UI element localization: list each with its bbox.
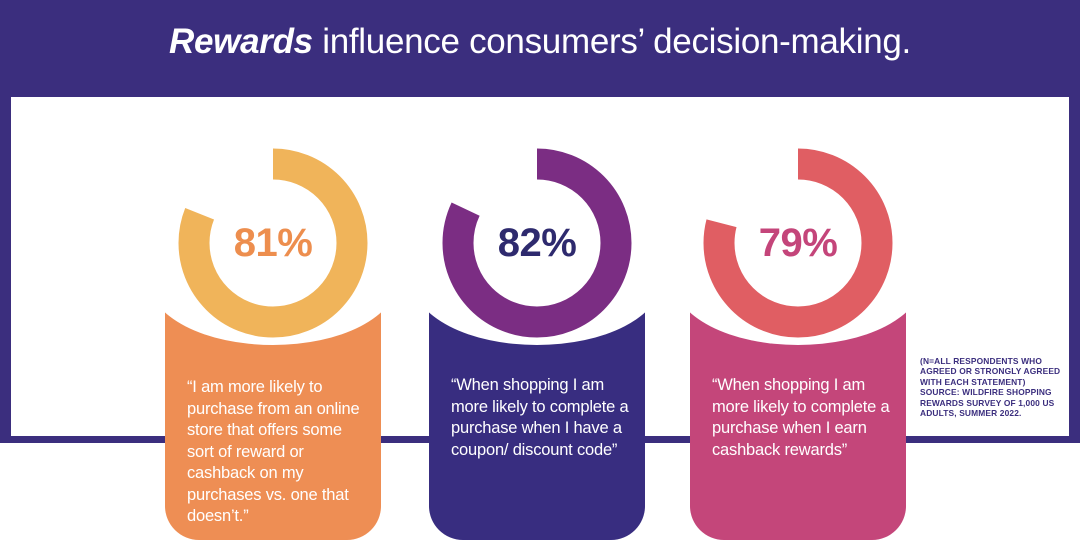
stat-block-1: “I am more likely to purchase from an on… [165, 303, 381, 540]
stat-block-3: “When shopping I am more likely to compl… [690, 303, 906, 540]
quote-text-2: “When shopping I am more likely to compl… [451, 375, 631, 461]
stat-block-2: “When shopping I am more likely to compl… [429, 303, 645, 540]
source-note: (N=ALL RESPONDENTS WHO AGREED OR STRONGL… [920, 356, 1070, 418]
title-accent: Rewards [169, 22, 313, 61]
stat-value-2: 82% [435, 141, 639, 345]
stat-value-1: 81% [171, 141, 375, 345]
quote-text-1: “I am more likely to purchase from an on… [187, 377, 367, 528]
stat-value-3: 79% [696, 141, 900, 345]
title-rest: influence consumers’ decision-making. [313, 22, 911, 61]
page-title: Rewards influence consumers’ decision-ma… [0, 22, 1080, 62]
quote-text-3: “When shopping I am more likely to compl… [712, 375, 892, 461]
